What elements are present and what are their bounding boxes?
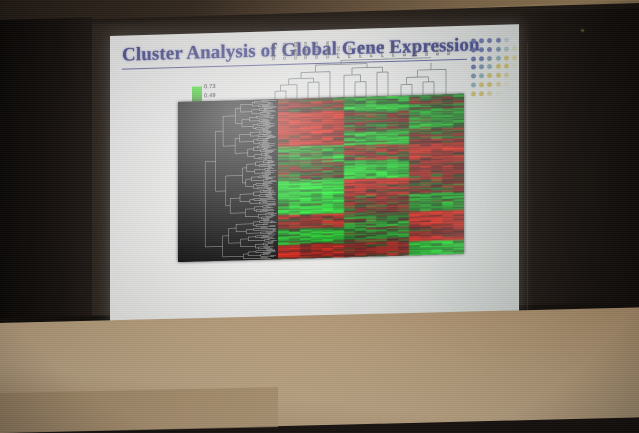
heatmap-cell — [398, 254, 409, 256]
column-label-12: BR-01 — [402, 43, 407, 57]
decor-dot-0 — [471, 39, 476, 44]
column-label-2: GSM-03 — [293, 42, 298, 60]
heatmap-cell — [442, 253, 453, 255]
decor-dot-21 — [496, 64, 501, 69]
heatmap-cell — [278, 258, 289, 259]
decor-dot-22 — [504, 64, 509, 69]
decor-dot-41 — [512, 90, 517, 95]
decor-dot-4 — [504, 38, 509, 43]
decor-dot-3 — [496, 38, 501, 43]
decor-dot-6 — [471, 48, 476, 53]
decor-dot-2 — [487, 38, 492, 43]
column-label-11: PT-06 — [391, 44, 396, 57]
heatmap-cell — [453, 253, 464, 255]
decor-dot-34 — [504, 81, 509, 86]
column-label-14: BR-03 — [424, 42, 429, 56]
screen-left-shadow — [0, 17, 92, 366]
decor-dot-9 — [496, 47, 501, 52]
indicator-light — [581, 29, 584, 32]
decor-dot-40 — [504, 90, 509, 95]
row-dendrogram-svg — [178, 99, 278, 262]
row-dendrogram-branches — [205, 100, 277, 260]
column-label-5: GSM-06 — [325, 41, 330, 59]
column-label-13: BR-02 — [413, 43, 418, 57]
colorbar-tick-1: 0.49 — [204, 91, 250, 99]
colorbar-tick-0: 0.73 — [204, 83, 250, 91]
heatmap-panel — [178, 94, 464, 262]
heatmap-cell — [376, 255, 387, 257]
decor-dot-17 — [512, 55, 517, 60]
heatmap-grid — [278, 94, 464, 259]
photograph-of-projected-slide: Cluster Analysis of Global Gene Expressi… — [0, 0, 639, 433]
screen-seam — [527, 42, 528, 332]
decor-dot-26 — [487, 73, 492, 78]
column-label-1: GSM-02 — [282, 42, 287, 60]
column-label-15: BR-04 — [435, 42, 440, 56]
decor-dot-39 — [496, 90, 501, 95]
decor-dot-1 — [479, 39, 484, 44]
heatmap-cell — [355, 256, 366, 258]
decor-dot-8 — [487, 47, 492, 52]
slide: Cluster Analysis of Global Gene Expressi… — [110, 24, 519, 323]
column-label-3: GSM-04 — [303, 42, 308, 60]
decor-dot-19 — [479, 65, 484, 70]
row-dendrogram — [178, 99, 278, 262]
column-label-16: BR-05 — [446, 42, 451, 56]
column-label-9: PT-04 — [369, 45, 374, 58]
decor-dot-31 — [479, 82, 484, 87]
decor-dot-5 — [512, 38, 517, 43]
decor-dot-35 — [512, 81, 517, 86]
heatmap-cell — [366, 255, 377, 257]
decor-dot-7 — [479, 47, 484, 52]
decor-dot-25 — [479, 73, 484, 78]
column-label-10: PT-05 — [380, 44, 385, 57]
column-label-6: PT-01 — [336, 46, 341, 59]
decor-dot-33 — [496, 82, 501, 87]
decor-dot-16 — [504, 55, 509, 60]
decor-dot-10 — [504, 47, 509, 52]
heatmap-cell — [387, 255, 398, 257]
column-dendrogram — [270, 56, 462, 100]
decor-dot-12 — [471, 56, 476, 61]
column-labels: GSM-01GSM-02GSM-03GSM-04GSM-05GSM-06PT-0… — [272, 27, 462, 60]
heatmap-cell — [333, 256, 344, 258]
decor-dot-29 — [512, 72, 517, 77]
decorative-dot-grid — [470, 36, 518, 97]
column-label-0: GSM-01 — [271, 43, 276, 61]
heatmap-cell — [420, 254, 431, 256]
decor-dot-32 — [487, 82, 492, 87]
decor-dot-15 — [496, 56, 501, 61]
decor-dot-23 — [512, 64, 517, 69]
heatmap-cell — [300, 257, 311, 259]
column-label-4: GSM-05 — [314, 41, 319, 59]
decor-dot-27 — [496, 73, 501, 78]
heatmap-cell — [344, 256, 355, 258]
decor-dot-11 — [512, 46, 517, 51]
decor-dot-30 — [471, 82, 476, 87]
decor-dot-13 — [479, 56, 484, 61]
heatmap-cell — [322, 257, 333, 259]
column-dendrogram-svg — [270, 56, 462, 100]
decor-dot-24 — [471, 74, 476, 79]
decor-dot-37 — [479, 91, 484, 96]
decor-dot-36 — [471, 91, 476, 96]
heatmap-cell — [431, 253, 442, 255]
heatmap-cell — [409, 254, 420, 256]
decor-dot-38 — [487, 91, 492, 96]
heatmap-cell — [311, 257, 322, 259]
decor-dot-20 — [487, 64, 492, 69]
heatmap-cell — [289, 258, 300, 260]
column-label-7: PT-02 — [347, 45, 352, 58]
decor-dot-14 — [487, 56, 492, 61]
decor-dot-28 — [504, 73, 509, 78]
decor-dot-18 — [471, 65, 476, 70]
column-label-8: PT-03 — [358, 45, 363, 58]
lower-wall-panel — [0, 387, 278, 433]
